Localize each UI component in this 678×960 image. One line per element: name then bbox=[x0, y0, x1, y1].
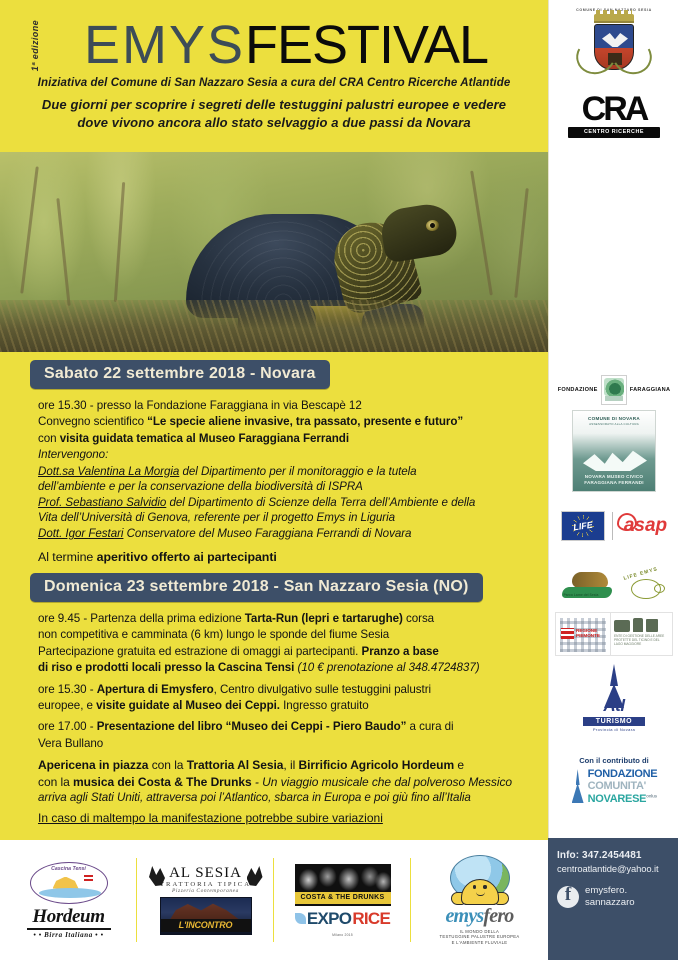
fondazione-faraggiana-logo: FONDAZIONE FARAGGIANA bbox=[549, 368, 678, 412]
hordeum-logo: Hordeum • • Birra Italiana • • bbox=[27, 907, 111, 939]
regione-name-1: REGIONE bbox=[576, 628, 597, 633]
heart-icon bbox=[617, 513, 637, 531]
otter-icon bbox=[572, 572, 608, 588]
museo-footer-1: NOVARA MUSEO CIVICO bbox=[573, 474, 655, 479]
apericena-sep: , il bbox=[283, 758, 298, 772]
saturday-line-visita: con visita guidata tematica al Museo Far… bbox=[38, 431, 522, 447]
fcn-onlus: onlus bbox=[646, 793, 657, 798]
birds-icon bbox=[583, 445, 647, 471]
leaf-icon bbox=[295, 913, 306, 924]
saturday-program: ore 15.30 - presso la Fondazione Faraggi… bbox=[26, 398, 522, 565]
tartarun-title: Tarta-Run (lepri e tartarughe) bbox=[245, 612, 403, 625]
costa-band-bar: COSTA & THE DRUNKS bbox=[295, 892, 391, 904]
emysfero-cont: europee, e bbox=[38, 699, 96, 712]
apericena-con: con la bbox=[148, 758, 186, 772]
cupola-icon bbox=[571, 769, 585, 803]
closing-highlight: aperitivo offerto ai partecipanti bbox=[97, 550, 277, 564]
regione-right: ENTE DI GESTIONE DELLE AREE PROTETTE DEL… bbox=[610, 613, 672, 655]
hordeum-wordmark: Hordeum bbox=[27, 907, 111, 927]
cascina-tensi-hordeum-cell: Cascina Tensi Hordeum • • Birra Italiana… bbox=[0, 840, 137, 960]
mole-tower-icon bbox=[601, 664, 627, 708]
visita-prefix: con bbox=[38, 432, 60, 445]
emysfero-wordmark: emysfero bbox=[421, 906, 539, 927]
facebook-handle-line-1: emysfero. bbox=[585, 885, 627, 896]
parco-lifeemys-logos: Parco Lame del Sesia LIFE EMYS bbox=[549, 562, 678, 610]
bird-icon bbox=[633, 618, 643, 632]
convegno-title: “Le specie aliene invasive, tra passato,… bbox=[147, 415, 463, 428]
monument-icon bbox=[646, 619, 658, 632]
parco-label: Parco Lame del Sesia bbox=[564, 593, 599, 597]
regione-name-2: PIEMONTE bbox=[576, 633, 600, 638]
emysfero-time: ore 15.30 - bbox=[38, 683, 97, 696]
turtle-head bbox=[378, 201, 459, 264]
turismo-bar: TURISMO bbox=[583, 717, 645, 726]
laurel-wreath-icon bbox=[572, 40, 656, 74]
facebook-icon[interactable] bbox=[557, 886, 579, 908]
landscape-icon bbox=[614, 620, 630, 632]
speaker-row: Prof. Sebastiano Salvidio del Dipartimen… bbox=[38, 495, 522, 511]
al-sesia-tagline-2: Pizzeria Contemporanea bbox=[151, 888, 261, 894]
speaker-role-cont: Vita dell’Università di Genova, referent… bbox=[38, 510, 522, 526]
facebook-row[interactable]: emysfero. sannazzaro bbox=[557, 885, 669, 908]
speaker-name: Dott.sa Valentina La Morgia bbox=[38, 465, 179, 478]
ingresso-gratuito: Ingresso gratuito bbox=[280, 699, 369, 712]
piemonte-flag-icon bbox=[561, 628, 574, 639]
regione-name: REGIONE PIEMONTE bbox=[576, 628, 600, 639]
apericena-title: Apericena in piazza bbox=[38, 758, 148, 772]
fcn-line-1: FONDAZIONE bbox=[588, 768, 658, 780]
trattoria-name: Trattoria Al Sesia bbox=[187, 758, 284, 772]
flag-icon bbox=[84, 874, 93, 881]
apericena-line-2: con la musica dei Costa & The Drunks - U… bbox=[38, 774, 522, 790]
al-sesia-incontro-cell: AL SESIA TRATTORIA TIPICA Pizzeria Conte… bbox=[137, 840, 274, 960]
emysfero-title: Apertura di Emysfero bbox=[97, 683, 214, 696]
al-sesia-tagline-1: TRATTORIA TIPICA bbox=[151, 881, 261, 888]
tartarun-suffix: corsa bbox=[403, 612, 434, 625]
hordeum-rule bbox=[27, 928, 111, 930]
visita-title: visita guidata tematica al Museo Faraggi… bbox=[60, 432, 349, 445]
farmhouse-icon bbox=[53, 877, 79, 889]
sunday-event-libro: ore 17.00 - Presentazione del libro “Mus… bbox=[38, 719, 522, 735]
sunday-day-bar: Domenica 23 settembre 2018 - San Nazzaro… bbox=[30, 573, 483, 602]
emysfero-subtitle: IL MONDO DELLA TESTUGGINE PALUSTRE EUROP… bbox=[421, 929, 539, 946]
band-name: musica dei Costa & The Drunks bbox=[73, 775, 252, 789]
speaker-role: del Dipartimento per il monitoraggio e l… bbox=[179, 465, 416, 478]
tartarun-line-4: di riso e prodotti locali presso la Casc… bbox=[38, 660, 522, 676]
regione-piemonte-logo: REGIONE PIEMONTE ENTE DI GESTIONE DELLE … bbox=[549, 612, 678, 662]
contributo-label: Con il contributo di bbox=[549, 756, 678, 765]
festival-wordmark: EMYSFESTIVAL bbox=[14, 16, 534, 74]
hordeum-subtitle: • • Birra Italiana • • bbox=[27, 931, 111, 939]
libro-suffix: a cura di bbox=[406, 720, 453, 733]
facebook-handle-line-2: sannazzaro bbox=[585, 897, 635, 908]
closing-prefix: Al termine bbox=[38, 550, 97, 564]
fcn-row: FONDAZIONE COMUNITA' NOVARESEonlus bbox=[549, 768, 678, 804]
facebook-handle[interactable]: emysfero. sannazzaro bbox=[585, 885, 635, 908]
fcn-line-3: NOVARESEonlus bbox=[588, 793, 657, 805]
tartarun-prefix: ore 9.45 - Partenza della prima edizione bbox=[38, 612, 245, 625]
wordmark-emys: EMYS bbox=[84, 15, 245, 75]
museo-subtitle: ASSESSORATO ALLA CULTURA bbox=[573, 422, 655, 426]
comune-novara-museo-logo: COMUNE DI NOVARA ASSESSORATO ALLA CULTUR… bbox=[549, 410, 678, 498]
wordmark-festival: FESTIVAL bbox=[245, 15, 488, 75]
crown-icon bbox=[594, 14, 634, 23]
pranzo-location: di riso e prodotti locali presso la Casc… bbox=[38, 661, 294, 674]
museo-title: COMUNE DI NOVARA bbox=[573, 416, 655, 421]
speaker-name: Dott. Igor Festari bbox=[38, 527, 123, 540]
fcn-wordmark: FONDAZIONE COMUNITA' NOVARESEonlus bbox=[588, 768, 658, 804]
saturday-day-bar: Sabato 22 settembre 2018 - Novara bbox=[30, 360, 330, 389]
contact-info-panel: Info: 347.2454481 centroatlantide@yahoo.… bbox=[548, 838, 678, 960]
sunday-program: ore 9.45 - Partenza della prima edizione… bbox=[26, 611, 522, 806]
edition-tag: 1ª edizione bbox=[30, 20, 40, 71]
life-emys-logo: LIFE EMYS bbox=[621, 569, 667, 603]
tartarun-line-2: non competitiva e camminata (6 km) lungo… bbox=[38, 627, 522, 643]
tartarun-free-text: Partecipazione gratuita ed estrazione di… bbox=[38, 645, 362, 658]
sunday-event-apericena: Apericena in piazza con la Trattoria Al … bbox=[38, 757, 522, 773]
life-eu-flag-icon: LIFE bbox=[561, 511, 605, 541]
turtle-photo bbox=[0, 152, 548, 352]
saturday-line-convegno: Convegno scientifico “Le specie aliene i… bbox=[38, 414, 522, 430]
tagline: Due giorni per scoprire i segreti delle … bbox=[14, 96, 534, 132]
expo-word: EXPO bbox=[307, 909, 351, 929]
apericena-line-3: arriva agli Stati Uniti, attraversa poi … bbox=[38, 790, 522, 806]
birrificio-name: Birrificio Agricolo Hordeum bbox=[299, 758, 455, 772]
lincontro-band: L'INCONTRO bbox=[161, 919, 251, 932]
fondazione-label-right: FARAGGIANA bbox=[630, 387, 671, 393]
speaker-row: Dott. Igor Festari Conservatore del Muse… bbox=[38, 526, 522, 542]
visite-ceppi: visite guidate al Museo dei Ceppi. bbox=[96, 699, 280, 712]
fcn-line-2: COMUNITA' bbox=[588, 780, 646, 792]
speaker-name: Prof. Sebastiano Salvidio bbox=[38, 496, 166, 509]
regione-subtitle: ENTE DI GESTIONE DELLE AREE PROTETTE DEL… bbox=[614, 634, 669, 646]
water-icon bbox=[39, 888, 101, 898]
pranzo-booking: (10 € prenotazione al 348.4724837) bbox=[294, 661, 479, 674]
costa-the-drunks-logo: COSTA & THE DRUNKS bbox=[295, 864, 391, 906]
libro-time: ore 17.00 - bbox=[38, 720, 97, 733]
al-sesia-wordmark: AL SESIA bbox=[151, 865, 261, 881]
spacer bbox=[38, 542, 522, 549]
libro-title: Presentazione del libro “Museo dei Ceppi… bbox=[97, 720, 407, 733]
emysfero-word-a: emys bbox=[445, 905, 483, 927]
emysfero-sub-3: E L'AMBIENTE FLUVIALE bbox=[421, 940, 539, 946]
asap-logo: asap bbox=[620, 515, 667, 537]
fondazione-label-left: FONDAZIONE bbox=[558, 387, 598, 393]
lincontro-wordmark: L'INCONTRO bbox=[161, 919, 251, 932]
fcn-novarese: NOVARESE bbox=[588, 793, 647, 805]
speaker-role-cont: dell’ambiente e per la conservazione del… bbox=[38, 479, 522, 495]
protected-area-icons bbox=[614, 616, 669, 632]
atl-turismo-logo: Atl TURISMO Provincia di Novara bbox=[549, 664, 678, 746]
emysfero-turtle-globe-icon bbox=[447, 855, 513, 905]
costa-wordmark: COSTA & THE DRUNKS bbox=[295, 892, 391, 904]
contact-email[interactable]: centroatlantide@yahoo.it bbox=[557, 863, 669, 874]
fondazione-comunita-novarese-logo: Con il contributo di FONDAZIONE COMUNITA… bbox=[549, 752, 678, 832]
sunday-event-emysfero: ore 15.30 - Apertura di Emysfero, Centro… bbox=[38, 682, 522, 698]
cra-wordmark: CRA bbox=[582, 92, 647, 126]
cra-subtitle: CENTRO RICERCHE ATLANTIDE bbox=[568, 127, 660, 138]
tagline-line-2: dove vivono ancora allo stato selvaggio … bbox=[14, 114, 534, 132]
main-column: 1ª edizione EMYSFESTIVAL Iniziativa del … bbox=[0, 0, 548, 838]
turtle-outline-icon bbox=[631, 579, 661, 599]
regione-card: REGIONE PIEMONTE ENTE DI GESTIONE DELLE … bbox=[555, 612, 673, 656]
speaker-role: del Dipartimento di Scienze della Terra … bbox=[166, 496, 475, 509]
poster-header: 1ª edizione EMYSFESTIVAL Iniziativa del … bbox=[0, 0, 548, 152]
exporice-logo: EXPO RICE bbox=[295, 909, 390, 929]
emysfero-line-2: europee, e visite guidate al Museo dei C… bbox=[38, 698, 522, 714]
sunday-event-tartarun: ore 9.45 - Partenza della prima edizione… bbox=[38, 611, 522, 627]
tagline-line-1: Due giorni per scoprire i segreti delle … bbox=[14, 96, 534, 114]
musica-prefix: con la bbox=[38, 775, 73, 789]
sponsor-sidebar: COMUNE DI SAN NAZZARO SESIA CRA CENTRO R… bbox=[548, 0, 678, 838]
faraggiana-mark-icon bbox=[601, 375, 627, 405]
regione-left: REGIONE PIEMONTE bbox=[556, 613, 610, 655]
saturday-closing: Al termine aperitivo offerto ai partecip… bbox=[38, 549, 522, 565]
lincontro-logo: L'INCONTRO bbox=[160, 897, 252, 935]
costa-exporice-cell: COSTA & THE DRUNKS EXPO RICE Milano 2015 bbox=[274, 840, 411, 960]
convegno-prefix: Convegno scientifico bbox=[38, 415, 147, 428]
life-asap-logos: LIFE asap bbox=[549, 500, 678, 552]
saturday-speakers-heading: Intervengono: bbox=[38, 447, 522, 463]
saturday-line-time: ore 15.30 - presso la Fondazione Faraggi… bbox=[38, 398, 522, 414]
turtle-mouth-icon bbox=[476, 892, 485, 896]
weather-notice: In caso di maltempo la manifestazione po… bbox=[26, 810, 522, 827]
logo-divider bbox=[612, 512, 613, 540]
al-sesia-logo: AL SESIA TRATTORIA TIPICA Pizzeria Conte… bbox=[151, 865, 261, 894]
atl-subtitle: Provincia di Novara bbox=[549, 727, 678, 732]
rice-word: RICE bbox=[352, 909, 390, 929]
event-poster: 1ª edizione EMYSFESTIVAL Iniziativa del … bbox=[0, 0, 678, 960]
exporice-subtitle: Milano 2015 bbox=[332, 933, 353, 937]
museo-footer-2: FARAGGIANA FERRANDI bbox=[573, 480, 655, 485]
turtle-eye-right-icon bbox=[483, 885, 486, 888]
band-desc: - Un viaggio musicale che dal polveroso … bbox=[252, 775, 512, 789]
museo-card: COMUNE DI NOVARA ASSESSORATO ALLA CULTUR… bbox=[572, 410, 656, 492]
libro-curator: Vera Bullano bbox=[38, 736, 522, 752]
emysfero-word-b: fero bbox=[483, 905, 513, 927]
emysfero-cell: emysfero IL MONDO DELLA TESTUGGINE PALUS… bbox=[411, 840, 548, 960]
speaker-row: Dott.sa Valentina La Morgia del Dipartim… bbox=[38, 464, 522, 480]
tartarun-line-3: Partecipazione gratuita ed estrazione di… bbox=[38, 644, 522, 660]
program-body: Sabato 22 settembre 2018 - Novara ore 15… bbox=[0, 352, 548, 838]
emysfero-desc: , Centro divulgativo sulle testuggini pa… bbox=[214, 683, 431, 696]
contact-phone[interactable]: Info: 347.2454481 bbox=[557, 850, 669, 861]
parco-lame-sesia-logo: Parco Lame del Sesia bbox=[562, 572, 616, 600]
speaker-role: Conservatore del Museo Faraggiana Ferran… bbox=[123, 527, 411, 540]
photo-ground bbox=[0, 300, 548, 352]
cra-logo: CRA CENTRO RICERCHE ATLANTIDE bbox=[549, 92, 678, 150]
organizer-subtitle: Iniziativa del Comune di San Nazzaro Ses… bbox=[14, 77, 534, 89]
turtle-eye-left-icon bbox=[473, 885, 476, 888]
apericena-end: e bbox=[454, 758, 464, 772]
pranzo-highlight: Pranzo a base bbox=[362, 645, 439, 658]
cascina-tensi-label: Cascina Tensi bbox=[31, 866, 107, 872]
emysfero-logo: emysfero IL MONDO DELLA TESTUGGINE PALUS… bbox=[421, 855, 539, 946]
cascina-tensi-logo: Cascina Tensi bbox=[30, 862, 108, 904]
sponsor-strip: Cascina Tensi Hordeum • • Birra Italiana… bbox=[0, 838, 548, 960]
